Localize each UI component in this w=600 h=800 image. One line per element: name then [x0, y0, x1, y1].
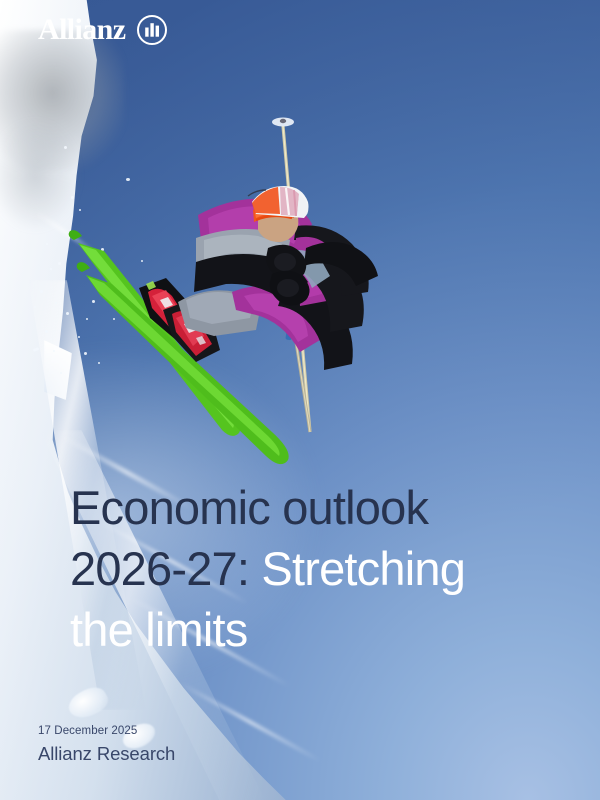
skier-photo-subject — [0, 0, 600, 800]
title-line-2-dark: 2026-27: — [70, 542, 249, 595]
title-line-2-highlight: Stretching — [261, 542, 465, 595]
brand-wordmark: Allianz — [38, 15, 125, 45]
cover-title: Economic outlook 2026-27: Stretching the… — [70, 477, 570, 660]
report-cover: Allianz Economic outlook 2026-27: Stretc… — [0, 0, 600, 800]
research-unit-label: Allianz Research — [38, 742, 175, 765]
title-line-2: 2026-27: Stretching — [70, 538, 570, 599]
allianz-bars-circle-icon — [136, 14, 168, 46]
title-line-3: the limits — [70, 599, 570, 660]
cover-footer: 17 December 2025 Allianz Research — [38, 723, 175, 765]
publication-date: 17 December 2025 — [38, 723, 175, 740]
allianz-logo: Allianz — [38, 14, 168, 46]
title-line-1: Economic outlook — [70, 477, 570, 538]
